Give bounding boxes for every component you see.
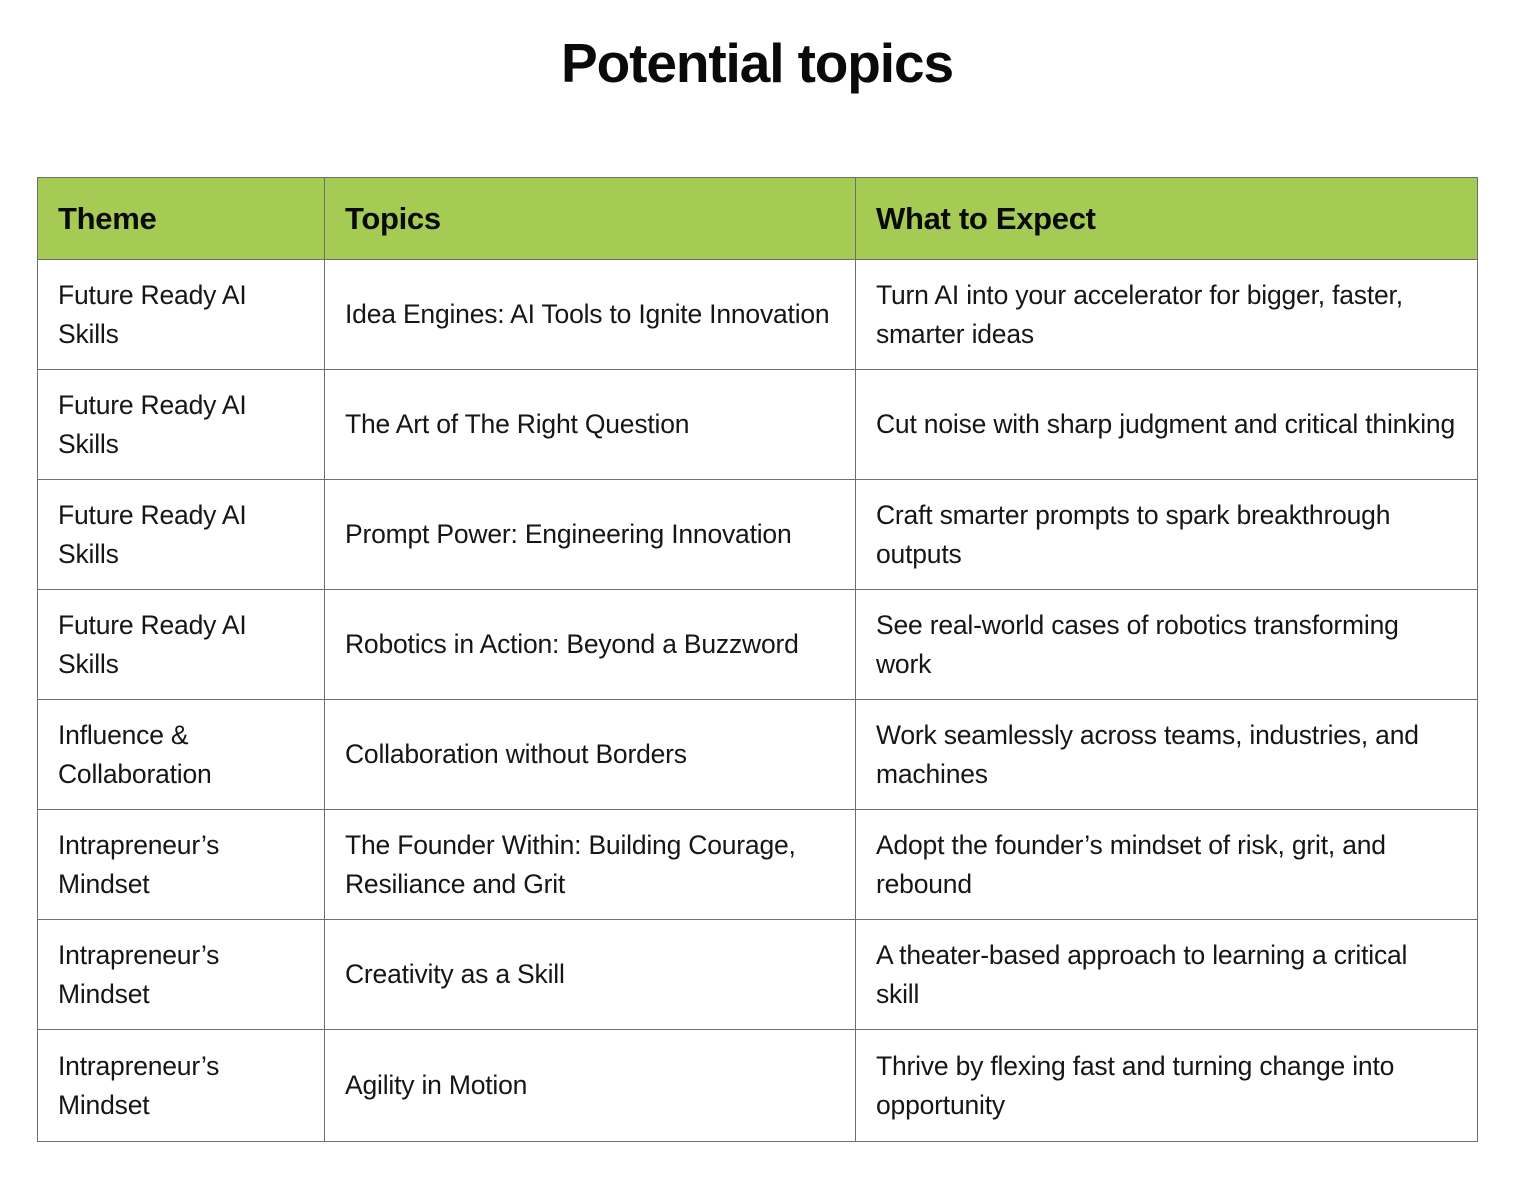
cell-topic-text: Collaboration without Borders (345, 735, 833, 774)
column-header-what-to-expect: What to Expect (856, 178, 1478, 260)
cell-topic-text: Creativity as a Skill (345, 955, 833, 994)
cell-theme-text: Intrapreneur’s Mindset (58, 1047, 302, 1125)
cell-topic: Agility in Motion (325, 1030, 856, 1142)
cell-expect-text: See real-world cases of robotics transfo… (876, 606, 1455, 684)
cell-topic-text: Robotics in Action: Beyond a Buzzword (345, 625, 833, 664)
cell-topic: Robotics in Action: Beyond a Buzzword (325, 590, 856, 700)
cell-expect: Turn AI into your accelerator for bigger… (856, 260, 1478, 370)
page-title: Potential topics (0, 30, 1514, 96)
column-header-theme: Theme (38, 178, 325, 260)
cell-topic: The Art of The Right Question (325, 370, 856, 480)
table-row: Intrapreneur’s Mindset Creativity as a S… (38, 920, 1478, 1030)
cell-topic: Prompt Power: Engineering Innovation (325, 480, 856, 590)
column-header-topics: Topics (325, 178, 856, 260)
cell-theme: Influence & Collaboration (38, 700, 325, 810)
table-header: Theme Topics What to Expect (38, 178, 1478, 260)
cell-expect-text: Craft smarter prompts to spark breakthro… (876, 496, 1455, 574)
cell-theme: Future Ready AI Skills (38, 370, 325, 480)
cell-theme-text: Future Ready AI Skills (58, 386, 302, 464)
cell-expect-text: Adopt the founder’s mindset of risk, gri… (876, 826, 1455, 904)
cell-expect: Craft smarter prompts to spark breakthro… (856, 480, 1478, 590)
cell-topic-text: Agility in Motion (345, 1066, 833, 1105)
cell-expect: Work seamlessly across teams, industries… (856, 700, 1478, 810)
cell-theme: Future Ready AI Skills (38, 590, 325, 700)
table-row: Future Ready AI Skills The Art of The Ri… (38, 370, 1478, 480)
cell-expect-text: Work seamlessly across teams, industries… (876, 716, 1455, 794)
cell-topic: Creativity as a Skill (325, 920, 856, 1030)
cell-theme: Intrapreneur’s Mindset (38, 1030, 325, 1142)
cell-expect-text: Turn AI into your accelerator for bigger… (876, 276, 1455, 354)
cell-topic: Collaboration without Borders (325, 700, 856, 810)
potential-topics-table: Theme Topics What to Expect Future Ready… (37, 177, 1478, 1142)
table-header-row: Theme Topics What to Expect (38, 178, 1478, 260)
cell-topic-text: The Founder Within: Building Courage, Re… (345, 826, 833, 904)
table-row: Intrapreneur’s Mindset The Founder Withi… (38, 810, 1478, 920)
slide-canvas: Potential topics Theme Topics What to Ex… (0, 0, 1514, 1196)
cell-theme: Future Ready AI Skills (38, 260, 325, 370)
cell-expect-text: Thrive by flexing fast and turning chang… (876, 1047, 1455, 1125)
table-row: Influence & Collaboration Collaboration … (38, 700, 1478, 810)
cell-theme-text: Influence & Collaboration (58, 716, 302, 794)
cell-theme-text: Future Ready AI Skills (58, 496, 302, 574)
cell-theme-text: Intrapreneur’s Mindset (58, 826, 302, 904)
cell-topic-text: Idea Engines: AI Tools to Ignite Innovat… (345, 295, 833, 334)
table-row: Future Ready AI Skills Idea Engines: AI … (38, 260, 1478, 370)
table-row: Future Ready AI Skills Robotics in Actio… (38, 590, 1478, 700)
cell-expect: See real-world cases of robotics transfo… (856, 590, 1478, 700)
cell-expect-text: A theater-based approach to learning a c… (876, 936, 1455, 1014)
cell-theme: Intrapreneur’s Mindset (38, 810, 325, 920)
table-row: Intrapreneur’s Mindset Agility in Motion… (38, 1030, 1478, 1142)
cell-expect: Adopt the founder’s mindset of risk, gri… (856, 810, 1478, 920)
cell-topic-text: Prompt Power: Engineering Innovation (345, 515, 833, 554)
table-body: Future Ready AI Skills Idea Engines: AI … (38, 260, 1478, 1142)
cell-topic: The Founder Within: Building Courage, Re… (325, 810, 856, 920)
cell-expect-text: Cut noise with sharp judgment and critic… (876, 405, 1455, 444)
cell-topic: Idea Engines: AI Tools to Ignite Innovat… (325, 260, 856, 370)
cell-theme: Future Ready AI Skills (38, 480, 325, 590)
cell-expect: Thrive by flexing fast and turning chang… (856, 1030, 1478, 1142)
cell-theme-text: Future Ready AI Skills (58, 276, 302, 354)
cell-theme: Intrapreneur’s Mindset (38, 920, 325, 1030)
table-row: Future Ready AI Skills Prompt Power: Eng… (38, 480, 1478, 590)
cell-theme-text: Future Ready AI Skills (58, 606, 302, 684)
cell-expect: Cut noise with sharp judgment and critic… (856, 370, 1478, 480)
cell-theme-text: Intrapreneur’s Mindset (58, 936, 302, 1014)
cell-topic-text: The Art of The Right Question (345, 405, 833, 444)
cell-expect: A theater-based approach to learning a c… (856, 920, 1478, 1030)
